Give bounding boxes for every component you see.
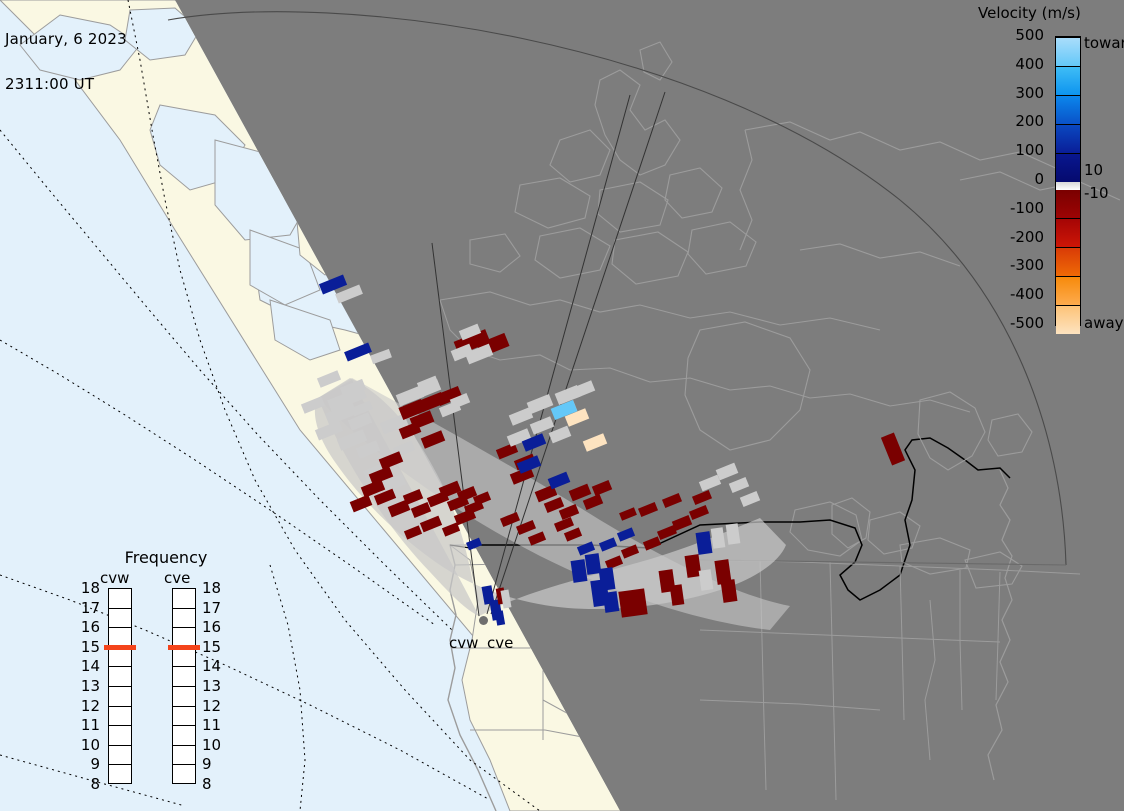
frequency-cell [109,667,131,687]
frequency-cell [109,746,131,766]
station-marker-dot [479,616,488,625]
frequency-tick-cvw-16: 16 [78,620,100,635]
frequency-tick-cve-15: 15 [202,640,224,655]
frequency-column-name-cvw: cvw [100,569,129,587]
velocity-tick-200: 200 [1015,114,1044,129]
velocity-cell [585,553,602,575]
frequency-cell [173,765,195,785]
frequency-tick-cve-12: 12 [202,699,224,714]
velocity-colorbar [1055,36,1081,326]
frequency-tick-cve-14: 14 [202,659,224,674]
timestamp-block: January, 6 2023 2311:00 UT [5,2,127,122]
velocity-band-250 [1056,95,1080,124]
frequency-tick-cvw-12: 12 [78,699,100,714]
velocity-band--150 [1056,218,1080,247]
velocity-side-label-ten: 10 [1084,163,1103,178]
velocity-band-450 [1056,37,1080,66]
velocity-band--350 [1056,276,1080,305]
frequency-tick-cvw-17: 17 [78,601,100,616]
frequency-column-name-cve: cve [164,569,190,587]
frequency-cell [173,746,195,766]
frequency-legend-panel: Frequency cvw18171615141312111098cve1817… [88,548,238,793]
frequency-cell [173,648,195,668]
frequency-cell [109,687,131,707]
frequency-bar-cve [172,588,196,784]
frequency-legend-title: Frequency [106,548,226,567]
frequency-tick-cvw-10: 10 [78,738,100,753]
frequency-cell [173,609,195,629]
velocity-tick-0: 0 [1034,172,1044,187]
velocity-tick--100: -100 [1010,201,1044,216]
velocity-band--450 [1056,305,1080,334]
velocity-cell [618,588,647,617]
time-label: 2311:00 UT [5,77,127,92]
frequency-cell [109,707,131,727]
velocity-side-label-minus-ten: -10 [1084,186,1109,201]
frequency-marker-cve [168,645,200,650]
velocity-tick--200: -200 [1010,230,1044,245]
velocity-tick-300: 300 [1015,86,1044,101]
velocity-band--50 [1056,190,1080,218]
frequency-cell [173,589,195,609]
frequency-cell [109,726,131,746]
frequency-tick-cvw-13: 13 [78,679,100,694]
velocity-tick-labels: 5004003002001000-100-200-300-400-500 [968,28,1048,328]
velocity-tick--500: -500 [1010,316,1044,331]
velocity-side-labels: toward10-10away [1084,28,1124,328]
frequency-cell [173,726,195,746]
velocity-colorbar-title: Velocity (m/s) [978,4,1124,22]
velocity-band-350 [1056,66,1080,95]
frequency-tick-cvw-11: 11 [78,718,100,733]
frequency-tick-cvw-9: 9 [78,757,100,772]
velocity-tick-500: 500 [1015,28,1044,43]
velocity-cell [603,591,620,613]
frequency-cell [109,765,131,785]
frequency-marker-cvw [104,645,136,650]
frequency-tick-cvw-15: 15 [78,640,100,655]
velocity-side-label-toward: toward [1084,36,1124,51]
velocity-side-label-away: away [1084,316,1124,331]
frequency-tick-cvw-14: 14 [78,659,100,674]
frequency-tick-cve-10: 10 [202,738,224,753]
velocity-tick--300: -300 [1010,258,1044,273]
frequency-tick-cvw-18: 18 [78,581,100,596]
velocity-tick--400: -400 [1010,287,1044,302]
velocity-band--250 [1056,247,1080,276]
frequency-cell [173,707,195,727]
velocity-tick-100: 100 [1015,143,1044,158]
station-label-cve: cve [487,634,513,652]
station-label-cvw: cvw [449,634,478,652]
frequency-cell [109,648,131,668]
frequency-tick-cve-9: 9 [202,757,224,772]
frequency-tick-cve-17: 17 [202,601,224,616]
frequency-bar-cvw [108,588,132,784]
date-label: January, 6 2023 [5,32,127,47]
radar-fan-plot: January, 6 2023 2311:00 UT Velocity (m/s… [0,0,1124,811]
frequency-tick-cve-13: 13 [202,679,224,694]
velocity-band-150 [1056,124,1080,153]
frequency-cell [173,687,195,707]
frequency-tick-cve-16: 16 [202,620,224,635]
frequency-tick-cve-8: 8 [202,777,224,792]
frequency-tick-cve-11: 11 [202,718,224,733]
frequency-tick-cve-18: 18 [202,581,224,596]
frequency-cell [109,609,131,629]
frequency-cell [109,589,131,609]
velocity-tick-400: 400 [1015,57,1044,72]
velocity-colorbar-panel: Velocity (m/s) 5004003002001000-100-200-… [968,4,1124,334]
frequency-cell [173,667,195,687]
velocity-band-0 [1056,182,1080,190]
velocity-band-50 [1056,153,1080,182]
frequency-tick-cvw-8: 8 [78,777,100,792]
